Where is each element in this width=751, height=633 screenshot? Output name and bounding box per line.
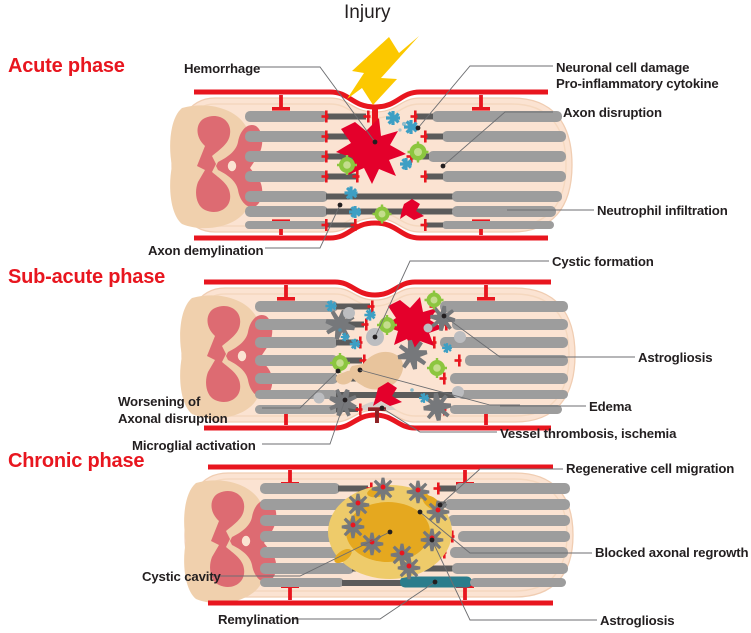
label-regenerative-cell-migration: Regenerative cell migration — [566, 461, 734, 477]
label-microglial-activation: Microglial activation — [132, 438, 256, 454]
phase-label-chronic: Chronic phase — [8, 450, 144, 473]
figure-canvas: Injury Acute phase Sub-acute phase Chron… — [0, 0, 751, 633]
label-worsening-of-axonal-disruption: Worsening of Axonal disruption — [118, 394, 228, 427]
label-remylination: Remylination — [218, 612, 299, 628]
label-neuronal-cell-damage: Neuronal cell damage — [556, 60, 689, 76]
injury-title: Injury — [344, 2, 390, 24]
chronic-phase-illustration — [184, 467, 597, 620]
label-blocked-axonal-regrowth: Blocked axonal regrowth — [595, 545, 748, 561]
illustration-layer — [0, 0, 751, 633]
label-cystic-formation: Cystic formation — [552, 254, 654, 270]
label-neutrophil-infiltration: Neutrophil infiltration — [597, 203, 728, 219]
label-astrogliosis: Astrogliosis — [638, 350, 712, 366]
label-axon-demylination: Axon demylination — [148, 243, 263, 259]
subacute-phase-illustration — [180, 261, 635, 444]
label-axon-disruption: Axon disruption — [563, 105, 662, 121]
label-pro-inflammatory-cytokine: Pro-inflammatory cytokine — [556, 76, 719, 92]
label-astrogliosis-chronic: Astrogliosis — [600, 613, 674, 629]
label-edema: Edema — [589, 399, 632, 415]
label-vessel-thrombosis-ischemia: Vessel thrombosis, ischemia — [500, 426, 676, 442]
phase-label-acute: Acute phase — [8, 55, 125, 78]
phase-label-sub-acute: Sub-acute phase — [8, 266, 165, 289]
label-cystic-cavity: Cystic cavity — [142, 569, 221, 585]
label-hemorrhage: Hemorrhage — [184, 61, 260, 77]
